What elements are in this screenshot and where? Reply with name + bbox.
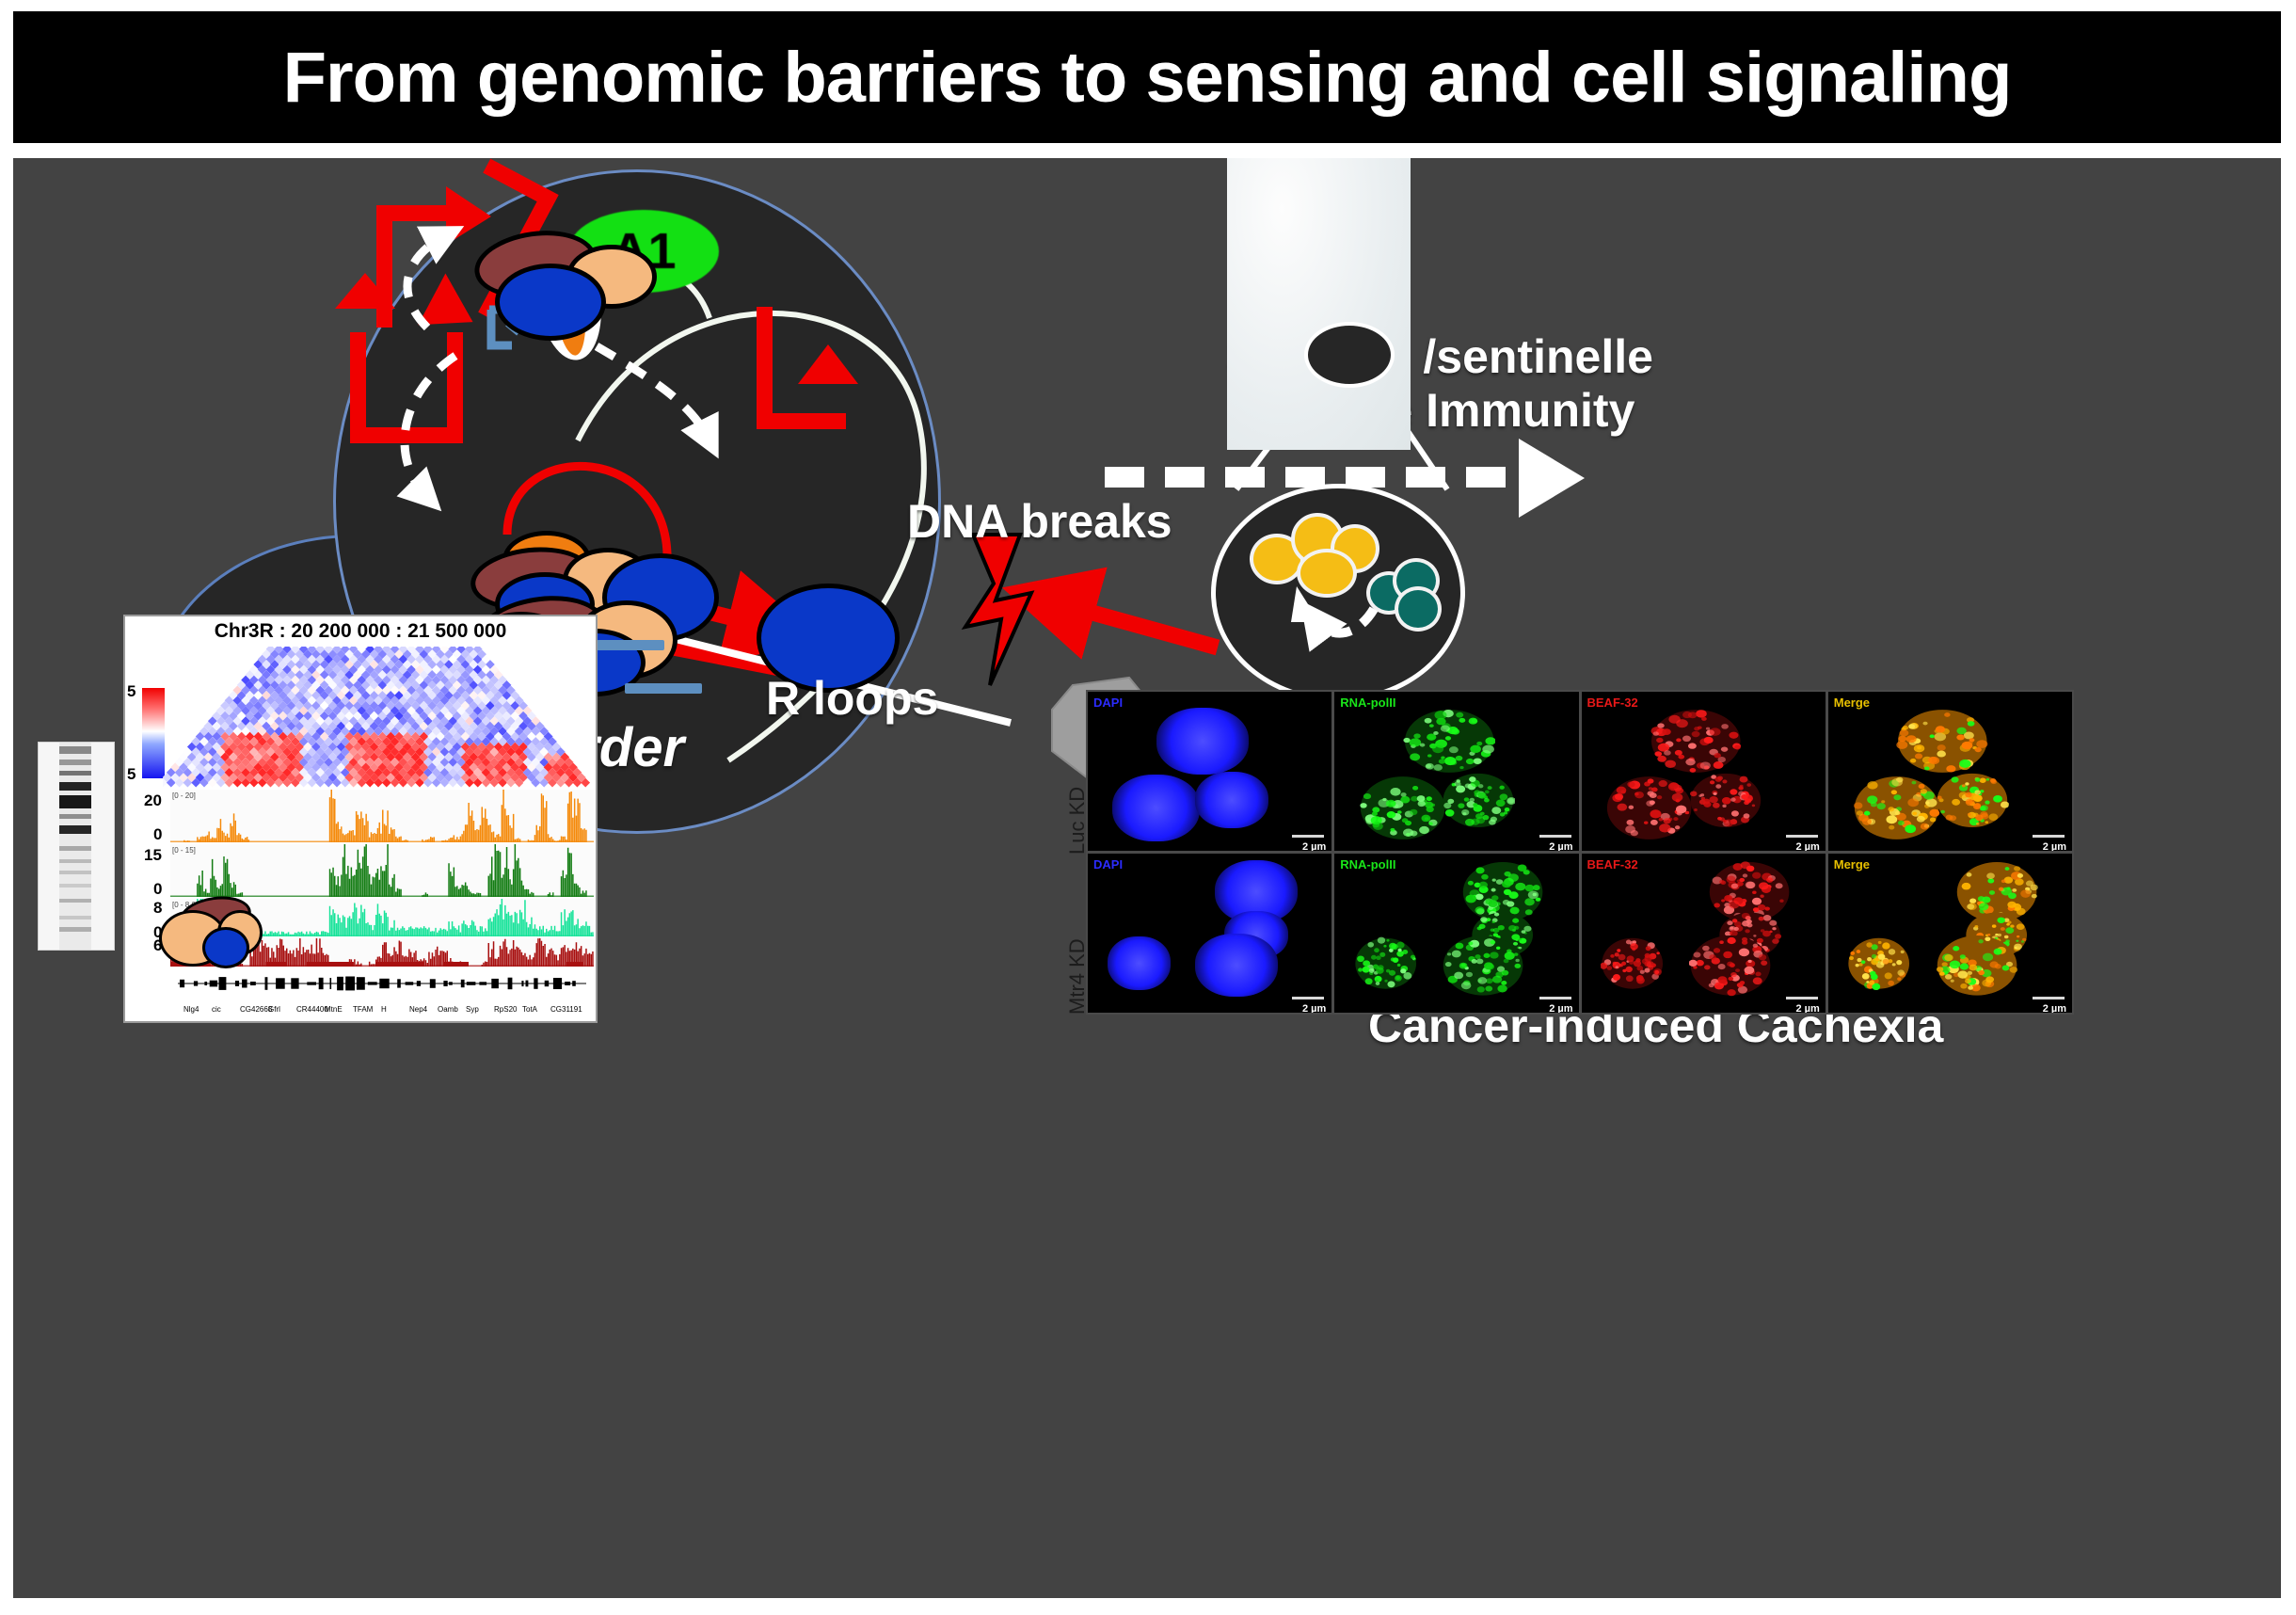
track-green (170, 844, 594, 897)
track-green-svg (170, 844, 594, 897)
tumor-cell-inset (1211, 484, 1465, 702)
gene-label: cic (212, 1005, 221, 1014)
channel-label: RNA-polII (1340, 696, 1395, 710)
gene-label: RpS20 (494, 1005, 517, 1014)
channel-label: Merge (1834, 857, 1870, 871)
scale-bar-label: 2 µm (1302, 841, 1326, 851)
track-green-min: 0 (153, 880, 162, 899)
page-title: From genomic barriers to sensing and cel… (283, 37, 2012, 119)
scale-bar (2033, 835, 2065, 838)
title-bar: From genomic barriers to sensing and cel… (13, 11, 2281, 143)
scale-bar (1539, 997, 1571, 999)
scale-bar (2033, 997, 2065, 999)
track-green-range: [0 - 15] (172, 846, 196, 855)
scale-bar (1786, 997, 1818, 999)
micro-cell-mtr4-beaf: BEAF-32 2 µm (1582, 854, 1826, 1013)
track-orange-svg (170, 790, 594, 842)
track-orange-min: 0 (153, 825, 162, 844)
scale-bar (1292, 835, 1324, 838)
micro-cell-mtr4-rnapol: RNA-polII 2 µm (1334, 854, 1578, 1013)
fly-abdomen-callout (1304, 322, 1395, 388)
micro-row-luc: DAPI 2 µm RNA-polII (1088, 692, 2072, 851)
gene-label: TFAM (353, 1005, 373, 1014)
scale-bar-label: 2 µm (1795, 841, 1819, 851)
channel-label: DAPI (1093, 857, 1123, 871)
gene-label: CR44400 (296, 1005, 328, 1014)
scale-bar-label: 2 µm (2043, 1003, 2066, 1013)
hic-title: Chr3R : 20 200 000 : 21 500 000 (125, 620, 596, 643)
micro-row-mtr4: DAPI 2 µm RNA-polII (1088, 854, 2072, 1013)
track-spring-max: 8 (153, 899, 162, 918)
gene-label: Oamb (438, 1005, 458, 1014)
channel-label: BEAF-32 (1587, 696, 1638, 710)
channel-label: RNA-polII (1340, 857, 1395, 871)
micro-cell-mtr4-dapi: DAPI 2 µm (1088, 854, 1331, 1013)
ncrna-bar-2 (625, 683, 702, 694)
gene-label: Gfrl (268, 1005, 280, 1014)
hic-colorbar (142, 688, 165, 778)
gene-label: Nlg4 (183, 1005, 199, 1014)
scale-bar-label: 2 µm (1549, 1003, 1572, 1013)
gene-label: Nep4 (409, 1005, 427, 1014)
scale-bar-label: 2 µm (1549, 841, 1572, 851)
channel-label: Merge (1834, 696, 1870, 710)
figure-canvas: A1 ORI ncRNAs (13, 158, 2281, 1598)
protein-blob-blue (495, 264, 606, 341)
scale-bar (1786, 835, 1818, 838)
gene-label: Syp (466, 1005, 479, 1014)
channel-label: BEAF-32 (1587, 857, 1638, 871)
gene-annotation-track: Nlg4cicCG42668GfrlCR44400MtnETFAMHNep4Oa… (170, 967, 594, 1015)
scale-bar-label: 2 µm (1795, 1003, 1819, 1013)
micro-cell-luc-dapi: DAPI 2 µm (1088, 692, 1331, 851)
micro-cell-luc-beaf: BEAF-32 2 µm (1582, 692, 1826, 851)
track-green-max: 15 (144, 846, 162, 865)
hic-colorbar-min: 5 (127, 765, 136, 784)
drosophila-photo (1227, 158, 1411, 450)
gel-electrophoresis-image (38, 742, 115, 951)
ncrna-bar-1 (597, 640, 664, 650)
scale-bar (1292, 997, 1324, 999)
label-dna-breaks: DNA breaks (907, 497, 1172, 547)
hic-contact-heatmap (163, 647, 594, 788)
confocal-microscopy-grid: DAPI 2 µm RNA-polII (1086, 690, 2074, 1015)
track-orange (170, 790, 594, 842)
scale-bar-label: 2 µm (2043, 841, 2066, 851)
scale-bar (1539, 835, 1571, 838)
hic-genome-browser-panel: Chr3R : 20 200 000 : 21 500 000 5 5 20 0… (123, 615, 598, 1023)
hic-colorbar-max: 5 (127, 682, 136, 701)
micro-cell-mtr4-merge: Merge 2 µm (1828, 854, 2072, 1013)
gene-label: CG31191 (550, 1005, 582, 1014)
label-r-loops: R loops (766, 674, 938, 724)
micro-cell-luc-merge: Merge 2 µm (1828, 692, 2072, 851)
micro-cell-luc-rnapol: RNA-polII 2 µm (1334, 692, 1578, 851)
track-orange-max: 20 (144, 792, 162, 810)
track-orange-range: [0 - 20] (172, 792, 196, 800)
gene-label: TotA (522, 1005, 537, 1014)
gene-label: MtnE (325, 1005, 343, 1014)
gene-label: H (381, 1005, 387, 1014)
slide-root: From genomic barriers to sensing and cel… (0, 0, 2296, 1615)
hic-overlay-blob-blue (202, 927, 249, 968)
channel-label: DAPI (1093, 696, 1123, 710)
scale-bar-label: 2 µm (1302, 1003, 1326, 1013)
